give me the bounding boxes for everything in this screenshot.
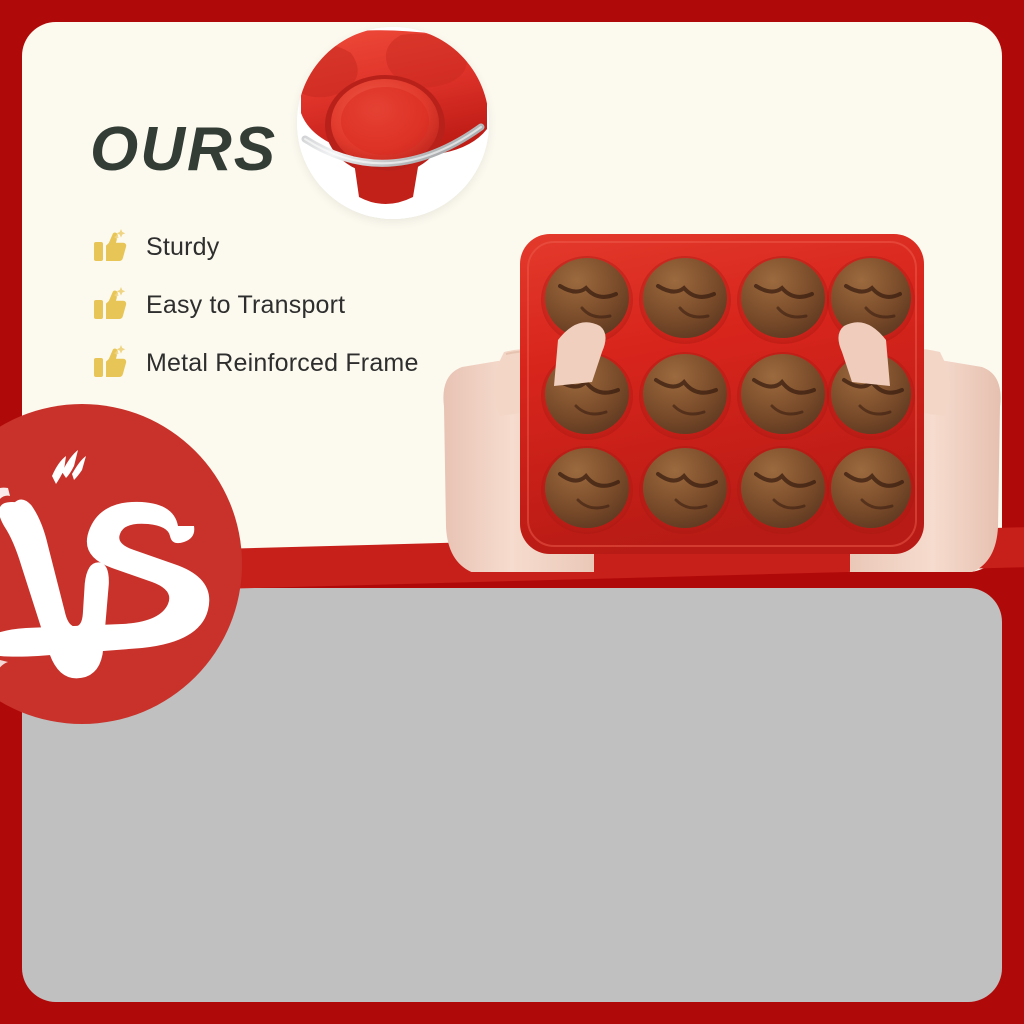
- ours-feature-list: Sturdy Easy to Transport: [92, 218, 419, 392]
- thumbs-up-sparkle-icon: [92, 285, 132, 325]
- red-muffin-pan-image: [442, 212, 1002, 572]
- muffin-cups: [541, 256, 915, 534]
- thumbs-up-sparkle-icon: [92, 227, 132, 267]
- feature-item: Metal Reinforced Frame: [92, 334, 419, 392]
- product-closeup-inset: [297, 27, 489, 219]
- vs-badge: VS: [0, 404, 242, 724]
- thumbs-up-sparkle-icon: [92, 343, 132, 383]
- feature-item: Sturdy: [92, 218, 419, 276]
- feature-label: Metal Reinforced Frame: [146, 349, 419, 378]
- feature-label: Easy to Transport: [146, 291, 345, 320]
- comparison-infographic: OURS Sturdy: [0, 0, 1024, 1024]
- feature-label: Sturdy: [146, 233, 219, 262]
- silicone-tray-body: [520, 234, 924, 554]
- feature-item: Easy to Transport: [92, 276, 419, 334]
- ours-title: OURS: [90, 114, 277, 185]
